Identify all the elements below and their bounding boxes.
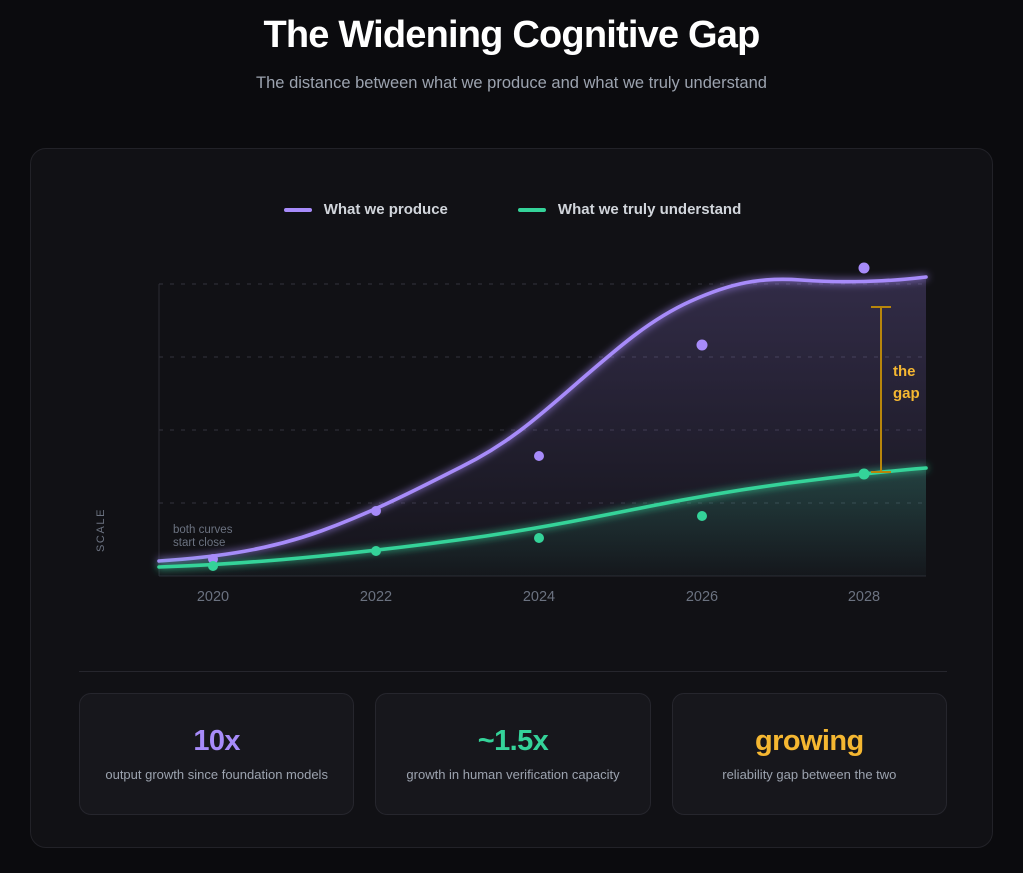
infographic-root: The Widening Cognitive Gap The distance … bbox=[0, 0, 1023, 873]
stat-card-output-growth[interactable]: 10x output growth since foundation model… bbox=[79, 693, 354, 815]
data-point bbox=[697, 511, 707, 521]
page-title: The Widening Cognitive Gap bbox=[0, 14, 1023, 57]
x-axis-tick: 2028 bbox=[824, 589, 904, 605]
gap-annotation-label: the gap bbox=[893, 361, 933, 405]
stat-value: 10x bbox=[193, 725, 240, 758]
data-point bbox=[371, 506, 381, 516]
x-axis-tick: 2020 bbox=[173, 589, 253, 605]
x-axis-tick: 2024 bbox=[499, 589, 579, 605]
data-point bbox=[534, 533, 544, 543]
y-axis-title: SCALE bbox=[95, 508, 107, 552]
section-divider bbox=[79, 671, 947, 672]
x-axis-tick: 2026 bbox=[662, 589, 742, 605]
stat-caption: output growth since foundation models bbox=[105, 766, 328, 784]
data-point bbox=[697, 340, 708, 351]
chart-panel: What we produce What we truly understand bbox=[30, 148, 993, 848]
stat-caption: growth in human verification capacity bbox=[406, 766, 619, 784]
stat-caption: reliability gap between the two bbox=[722, 766, 896, 784]
data-point bbox=[534, 451, 544, 461]
x-axis-tick: 2022 bbox=[336, 589, 416, 605]
data-point bbox=[859, 263, 870, 274]
inline-note: both curves start close bbox=[173, 524, 253, 550]
stat-card-reliability-gap[interactable]: growing reliability gap between the two bbox=[672, 693, 947, 815]
data-point bbox=[371, 546, 381, 556]
stat-value: ~1.5x bbox=[478, 725, 548, 758]
data-point bbox=[859, 469, 870, 480]
stat-value: growing bbox=[755, 725, 864, 758]
page-subtitle: The distance between what we produce and… bbox=[0, 74, 1023, 93]
data-point bbox=[208, 561, 218, 571]
stat-card-verification-capacity[interactable]: ~1.5x growth in human verification capac… bbox=[375, 693, 650, 815]
stat-cards: 10x output growth since foundation model… bbox=[79, 693, 947, 815]
